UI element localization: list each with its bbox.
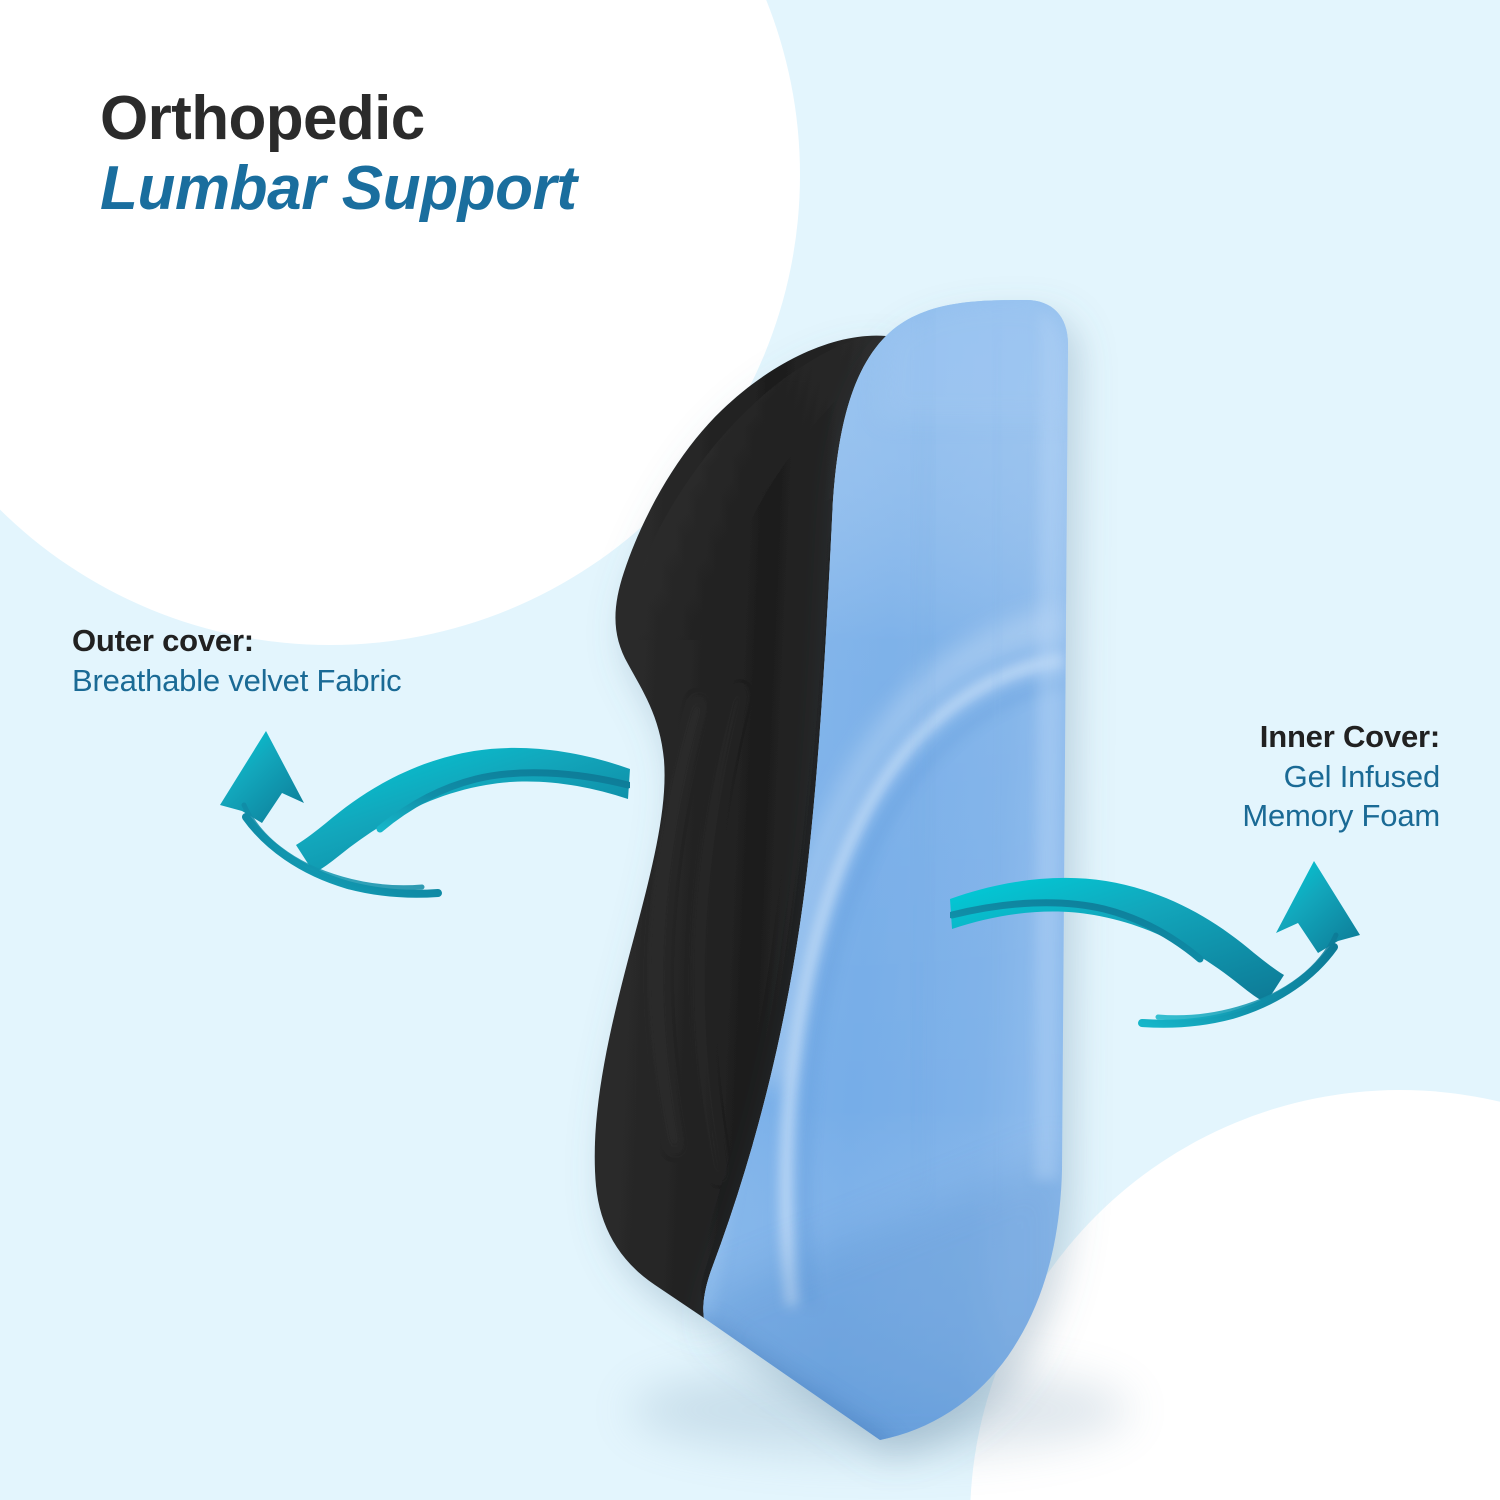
page-title: Orthopedic Lumbar Support	[100, 88, 720, 221]
product-gel-foam-core	[680, 290, 1090, 1460]
product-ground-shadow	[630, 1364, 1130, 1456]
callout-outer-cover-body: Breathable velvet Fabric	[72, 662, 542, 700]
infographic-canvas: Orthopedic Lumbar Support	[0, 0, 1500, 1500]
curved-arrow-up-left-icon	[200, 725, 630, 915]
curved-arrow-up-right-icon	[950, 855, 1380, 1035]
callout-inner-cover-title: Inner Cover:	[1040, 718, 1440, 756]
callout-outer-cover-title: Outer cover:	[72, 622, 542, 660]
callout-inner-cover-body-line-2: Memory Foam	[1040, 797, 1440, 835]
title-line-primary: Orthopedic	[100, 88, 720, 150]
title-line-secondary: Lumbar Support	[100, 156, 720, 221]
callout-outer-cover: Outer cover: Breathable velvet Fabric	[72, 622, 542, 701]
product-velvet-cover	[595, 330, 890, 1320]
decorative-circle-bottom-right	[970, 1090, 1500, 1500]
callout-inner-cover-body-line-1: Gel Infused	[1040, 758, 1440, 796]
callout-inner-cover: Inner Cover: Gel Infused Memory Foam	[1040, 718, 1440, 835]
